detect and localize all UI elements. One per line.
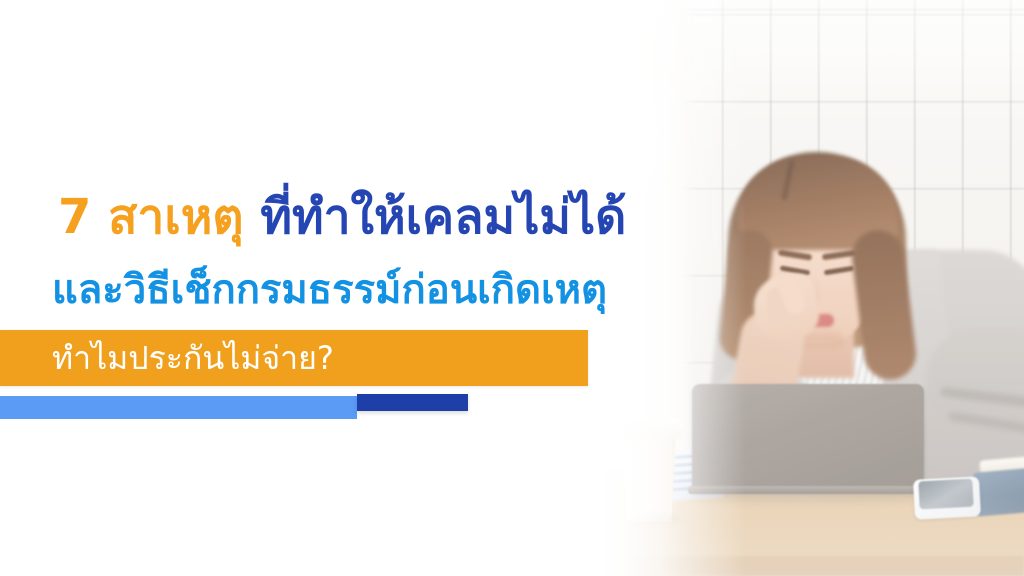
headline-line-3: ทำไมประกันไม่จ่าย? bbox=[52, 341, 334, 376]
photo-fade-left bbox=[596, 0, 746, 576]
headline-line-1: 7 สาเหตุ ที่ทำให้เคลมไม่ได้ bbox=[58, 193, 626, 241]
dark-blue-accent-bar bbox=[357, 394, 468, 411]
hero-photo bbox=[596, 0, 1024, 576]
promotional-banner: 7 สาเหตุ ที่ทำให้เคลมไม่ได้ และวิธีเช็กก… bbox=[0, 0, 1024, 576]
headline-line-1-rest: ที่ทำให้เคลมไม่ได้ bbox=[260, 189, 626, 245]
headline-line-1-keyword: สาเหตุ bbox=[108, 189, 243, 245]
headline-line-2: และวิธีเช็กกรมธรรม์ก่อนเกิดเหตุ bbox=[52, 270, 607, 310]
headline-line-1-highlight: 7 bbox=[58, 189, 91, 245]
light-blue-accent-bar bbox=[0, 396, 357, 419]
